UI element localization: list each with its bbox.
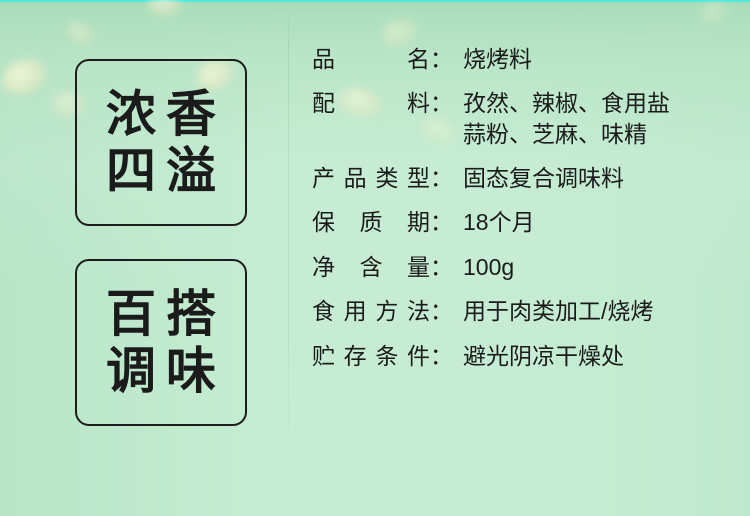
product-info-list: 品名 ： 烧烤料 配料 ： 孜然、辣椒、食用盐 蒜粉、芝麻、味精 产品类型 ： … [312,44,732,385]
info-row-storage: 贮存条件 ： 避光阴凉干燥处 [312,341,732,371]
info-row-product-type: 产品类型 ： 固态复合调味料 [312,163,732,193]
info-value: 18个月 [455,207,732,237]
badge-line: 百搭 [96,286,226,343]
info-colon: ： [430,88,455,118]
top-accent-bar [0,0,750,2]
info-colon: ： [430,44,455,74]
info-row-product-name: 品名 ： 烧烤料 [312,44,732,74]
badge-bai-da-tiao-wei: 百搭 调味 [75,259,247,426]
info-value: 100g [455,252,732,282]
info-value: 孜然、辣椒、食用盐 蒜粉、芝麻、味精 [455,88,732,149]
info-label: 保质期 [312,207,430,237]
info-value: 固态复合调味料 [455,163,732,193]
info-colon: ： [430,207,455,237]
badge-line: 四溢 [96,143,226,200]
info-value: 避光阴凉干燥处 [455,341,732,371]
info-label: 贮存条件 [312,341,430,371]
column-divider [288,0,289,516]
info-value: 用于肉类加工/烧烤 [455,296,732,326]
info-colon: ： [430,296,455,326]
info-row-usage: 食用方法 ： 用于肉类加工/烧烤 [312,296,732,326]
info-value: 烧烤料 [455,44,732,74]
info-label: 品名 [312,44,430,74]
info-label: 配料 [312,88,430,118]
info-label: 净含量 [312,252,430,282]
info-label: 食用方法 [312,296,430,326]
badge-line: 调味 [96,343,226,400]
info-colon: ： [430,341,455,371]
info-label: 产品类型 [312,163,430,193]
badge-nong-xiang-si-yi: 浓香 四溢 [75,59,247,226]
info-row-shelf-life: 保质期 ： 18个月 [312,207,732,237]
info-colon: ： [430,163,455,193]
product-label-canvas: 浓香 四溢 百搭 调味 品名 ： 烧烤料 配料 ： 孜然、辣椒、食用盐 蒜粉、芝… [0,0,750,516]
badge-line: 浓香 [96,86,226,143]
info-colon: ： [430,252,455,282]
info-row-net-weight: 净含量 ： 100g [312,252,732,282]
info-row-ingredients: 配料 ： 孜然、辣椒、食用盐 蒜粉、芝麻、味精 [312,88,732,149]
